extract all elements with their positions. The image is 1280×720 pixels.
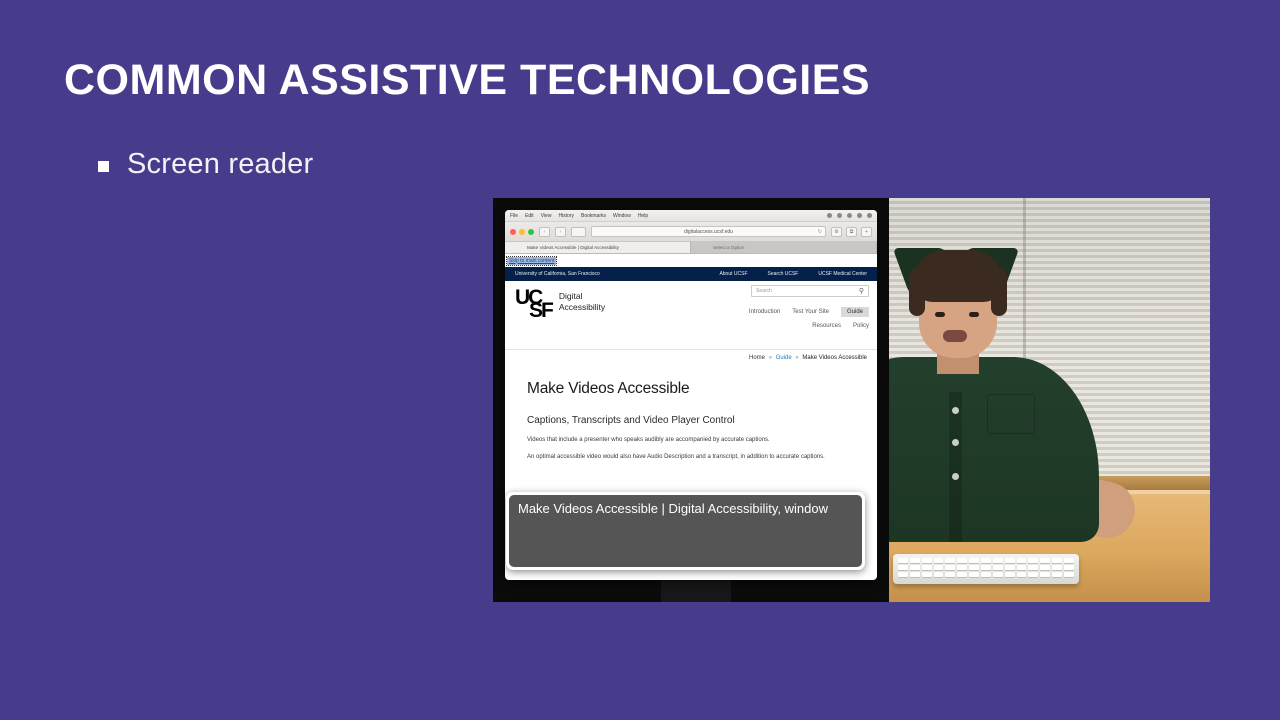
ucsf-global-bar[interactable]: University of California, San Francisco …	[505, 267, 877, 281]
clock-icon[interactable]	[857, 213, 862, 218]
breadcrumb-current: Make Videos Accessible	[802, 355, 867, 361]
menubar-status-icons	[827, 213, 872, 218]
breadcrumb-home[interactable]: Home	[749, 355, 765, 361]
presenter-hair-side	[909, 268, 925, 316]
link-about-ucsf[interactable]: About UCSF	[719, 271, 747, 277]
skip-to-main-content-link[interactable]: Skip to main content	[507, 257, 556, 265]
ucsf-logo-sf: SF	[529, 302, 552, 319]
menu-bookmarks[interactable]: Bookmarks	[581, 213, 606, 219]
wifi-icon[interactable]	[837, 213, 842, 218]
ucsf-logo[interactable]: UC SF	[515, 289, 552, 319]
shirt-button	[952, 407, 959, 414]
nav-policy[interactable]: Policy	[853, 323, 869, 329]
content-paragraph-1: Videos that include a presenter who spea…	[527, 436, 861, 446]
content-subheading: Captions, Transcripts and Video Player C…	[527, 414, 861, 428]
browser-tab-active[interactable]: Make Videos Accessible | Digital Accessi…	[505, 242, 691, 253]
shirt-placket	[949, 392, 962, 542]
voiceover-caption-text: Make Videos Accessible | Digital Accessi…	[518, 501, 853, 517]
content-heading: Make Videos Accessible	[527, 380, 861, 398]
site-header: Search ⚲ UC SF Digital Accessibility	[505, 281, 877, 349]
skip-link-row[interactable]: Skip to main content	[505, 254, 877, 267]
reload-icon[interactable]: ↻	[818, 229, 822, 235]
link-search-ucsf[interactable]: Search UCSF	[768, 271, 799, 277]
forward-button[interactable]: ›	[555, 227, 566, 237]
sidebar-toggle-icon[interactable]	[571, 227, 586, 237]
share-icon[interactable]: ⚙	[831, 227, 842, 237]
address-bar[interactable]: digitalaccess.ucsf.edu ↻	[591, 226, 826, 237]
site-name-line2: Accessibility	[559, 302, 605, 313]
maximize-icon[interactable]	[528, 229, 534, 235]
presenter-eye-left	[935, 312, 945, 317]
shirt-button	[952, 439, 959, 446]
nav-guide[interactable]: Guide	[841, 307, 869, 317]
shirt-button	[952, 473, 959, 480]
spotlight-search-icon[interactable]	[867, 213, 872, 218]
back-button[interactable]: ‹	[539, 227, 550, 237]
breadcrumb-separator: »	[795, 355, 798, 361]
square-bullet-icon	[98, 161, 109, 172]
presenter-eye-right	[969, 312, 979, 317]
page-title: COMMON ASSISTIVE TECHNOLOGIES	[64, 56, 870, 105]
voiceover-caption-panel: Make Videos Accessible | Digital Accessi…	[506, 492, 865, 570]
menu-file[interactable]: File	[510, 213, 518, 219]
window-controls[interactable]	[510, 229, 534, 235]
breadcrumb-separator: »	[769, 355, 772, 361]
menu-help[interactable]: Help	[638, 213, 648, 219]
site-navigation[interactable]: Introduction Test Your Site Guide Resour…	[749, 307, 869, 329]
presenter-hair-side	[991, 268, 1007, 316]
bullet-list-item: Screen reader	[98, 148, 313, 181]
magnifier-icon[interactable]: ⚲	[859, 287, 864, 295]
site-search-input[interactable]: Search ⚲	[751, 285, 869, 297]
close-icon[interactable]	[510, 229, 516, 235]
keyboard-row	[898, 558, 1074, 563]
browser-tab-inactive[interactable]: Select a Option	[691, 242, 877, 253]
menu-edit[interactable]: Edit	[525, 213, 534, 219]
presenter-hair	[913, 250, 1003, 302]
presenter-mouth	[943, 330, 967, 342]
link-ucsf-medical-center[interactable]: UCSF Medical Center	[818, 271, 867, 277]
macos-menu-bar[interactable]: File Edit View History Bookmarks Window …	[505, 210, 877, 222]
bluetooth-icon[interactable]	[847, 213, 852, 218]
breadcrumb[interactable]: Home » Guide » Make Videos Accessible	[505, 349, 877, 366]
site-name-line1: Digital	[559, 291, 605, 302]
nav-introduction[interactable]: Introduction	[749, 309, 780, 315]
breadcrumb-guide[interactable]: Guide	[776, 355, 792, 361]
menu-window[interactable]: Window	[613, 213, 631, 219]
toolbar-right-icons[interactable]: ⚙ ⧉ +	[831, 227, 872, 237]
new-tab-icon[interactable]: +	[861, 227, 872, 237]
ucsf-brand-label: University of California, San Francisco	[515, 271, 699, 277]
address-bar-url: digitalaccess.ucsf.edu	[684, 229, 733, 235]
nav-resources[interactable]: Resources	[812, 323, 841, 329]
nav-test-your-site[interactable]: Test Your Site	[792, 309, 829, 315]
site-name[interactable]: Digital Accessibility	[559, 291, 605, 312]
presentation-slide: COMMON ASSISTIVE TECHNOLOGIES Screen rea…	[0, 0, 1280, 720]
apple-keyboard	[893, 554, 1079, 584]
content-paragraph-2: An optimal accessible video would also h…	[527, 453, 861, 463]
site-search-placeholder: Search	[756, 288, 772, 294]
menu-view[interactable]: View	[541, 213, 552, 219]
shirt-pocket	[987, 394, 1035, 434]
nav-row-secondary[interactable]: Resources Policy	[749, 323, 869, 329]
battery-icon[interactable]	[827, 213, 832, 218]
minimize-icon[interactable]	[519, 229, 525, 235]
bullet-item-label: Screen reader	[127, 148, 313, 181]
menu-history[interactable]: History	[558, 213, 574, 219]
show-tabs-icon[interactable]: ⧉	[846, 227, 857, 237]
page-content: Make Videos Accessible Captions, Transcr…	[505, 366, 877, 463]
keyboard-row	[898, 565, 1074, 570]
browser-tab-bar[interactable]: Make Videos Accessible | Digital Accessi…	[505, 242, 877, 254]
nav-row-primary[interactable]: Introduction Test Your Site Guide	[749, 307, 869, 317]
keyboard-row	[898, 572, 1074, 577]
browser-toolbar[interactable]: ‹ › digitalaccess.ucsf.edu ↻ ⚙ ⧉ +	[505, 222, 877, 242]
voiceover-caption-inner: Make Videos Accessible | Digital Accessi…	[509, 495, 862, 567]
